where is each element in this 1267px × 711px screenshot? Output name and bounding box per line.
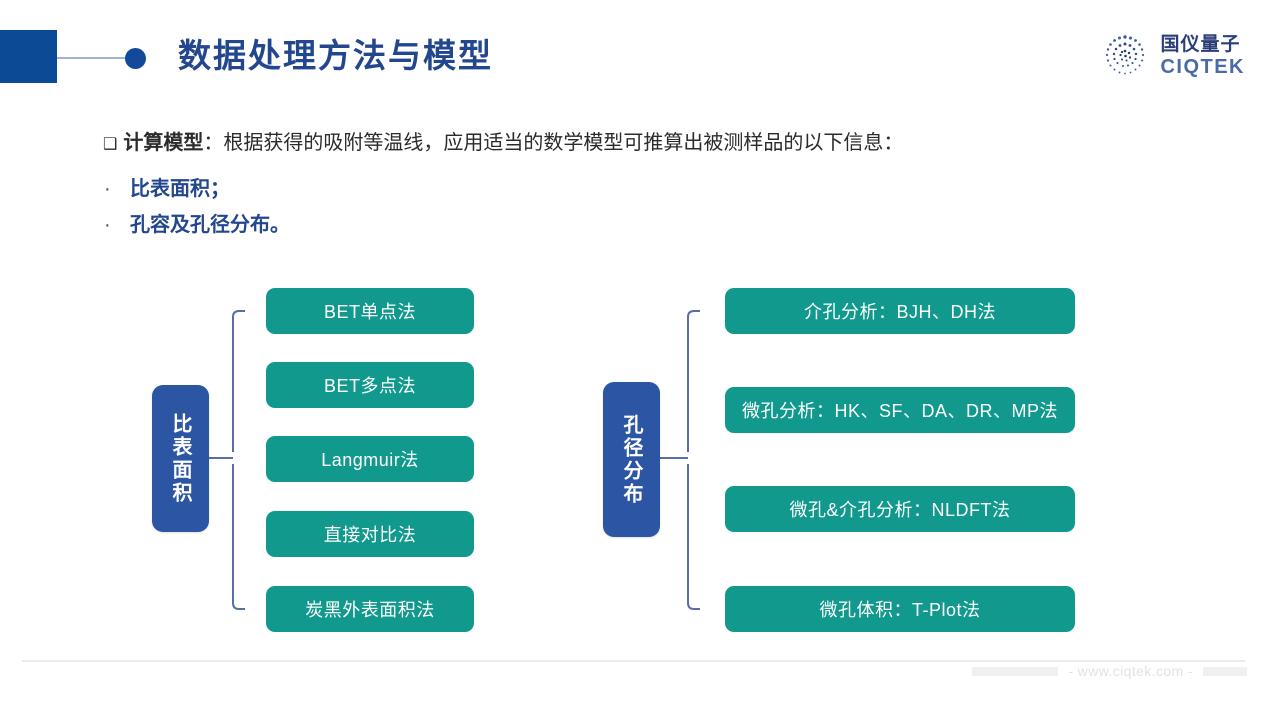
bullet-marker-icon: ·: [104, 174, 130, 204]
logo-wordmark: 国仪量子 CIQTEK: [1160, 35, 1245, 77]
bullet-label-2: 孔容及孔径分布。: [130, 214, 290, 236]
bracket-right-top: [688, 311, 700, 452]
logo-text-en: CIQTEK: [1160, 57, 1245, 77]
slide: 数据处理方法与模型: [0, 0, 1267, 711]
bullet-item-2: ·孔容及孔径分布。: [104, 210, 290, 240]
footer-url: - www.ciqtek.com -: [1068, 663, 1193, 679]
node-micropore-analysis[interactable]: 微孔分析：HK、SF、DA、DR、MP法: [725, 387, 1075, 433]
logo-text-cn: 国仪量子: [1160, 35, 1245, 54]
group-label-surface-area: 比表面积: [152, 385, 209, 532]
header-accent-square: [0, 30, 57, 83]
footer-bar-right: [1203, 667, 1247, 676]
paragraph-text: ：根据获得的吸附等温线，应用适当的数学模型可推算出被测样品的以下信息：: [203, 132, 903, 154]
node-micro-meso-nldft[interactable]: 微孔&介孔分析：NLDFT法: [725, 486, 1075, 532]
bracket-left-top: [233, 311, 245, 452]
header-connector-line: [57, 57, 126, 59]
ciqtek-swirl-dots-icon: [1099, 31, 1151, 81]
paragraph-marker-icon: ❑: [103, 136, 117, 153]
node-mesopore-analysis[interactable]: 介孔分析：BJH、DH法: [725, 288, 1075, 334]
bullet-marker-icon: ·: [104, 210, 130, 240]
footer-bar-left: [972, 667, 1058, 676]
group-label-pore-distribution: 孔径分布: [603, 382, 660, 537]
node-micropore-volume-tplot[interactable]: 微孔体积：T-Plot法: [725, 586, 1075, 632]
footer: - www.ciqtek.com -: [972, 663, 1247, 679]
footer-divider: [22, 660, 1245, 662]
node-bet-multi-point[interactable]: BET多点法: [266, 362, 474, 408]
header-bullet-dot-icon: [125, 48, 146, 69]
bullet-item-1: ·比表面积；: [104, 174, 230, 204]
brand-logo: 国仪量子 CIQTEK: [1099, 31, 1245, 81]
node-langmuir[interactable]: Langmuir法: [266, 436, 474, 482]
node-carbon-black-external-area[interactable]: 炭黑外表面积法: [266, 586, 474, 632]
paragraph-keyword: 计算模型: [123, 132, 203, 154]
diagram-connectors: [0, 0, 1267, 711]
intro-paragraph: ❑计算模型：根据获得的吸附等温线，应用适当的数学模型可推算出被测样品的以下信息：: [103, 128, 903, 160]
bullet-label-1: 比表面积；: [130, 178, 230, 200]
bracket-right-bottom: [688, 464, 700, 609]
page-title: 数据处理方法与模型: [178, 34, 493, 78]
node-direct-comparison[interactable]: 直接对比法: [266, 511, 474, 557]
bracket-left-bottom: [233, 464, 245, 609]
node-bet-single-point[interactable]: BET单点法: [266, 288, 474, 334]
